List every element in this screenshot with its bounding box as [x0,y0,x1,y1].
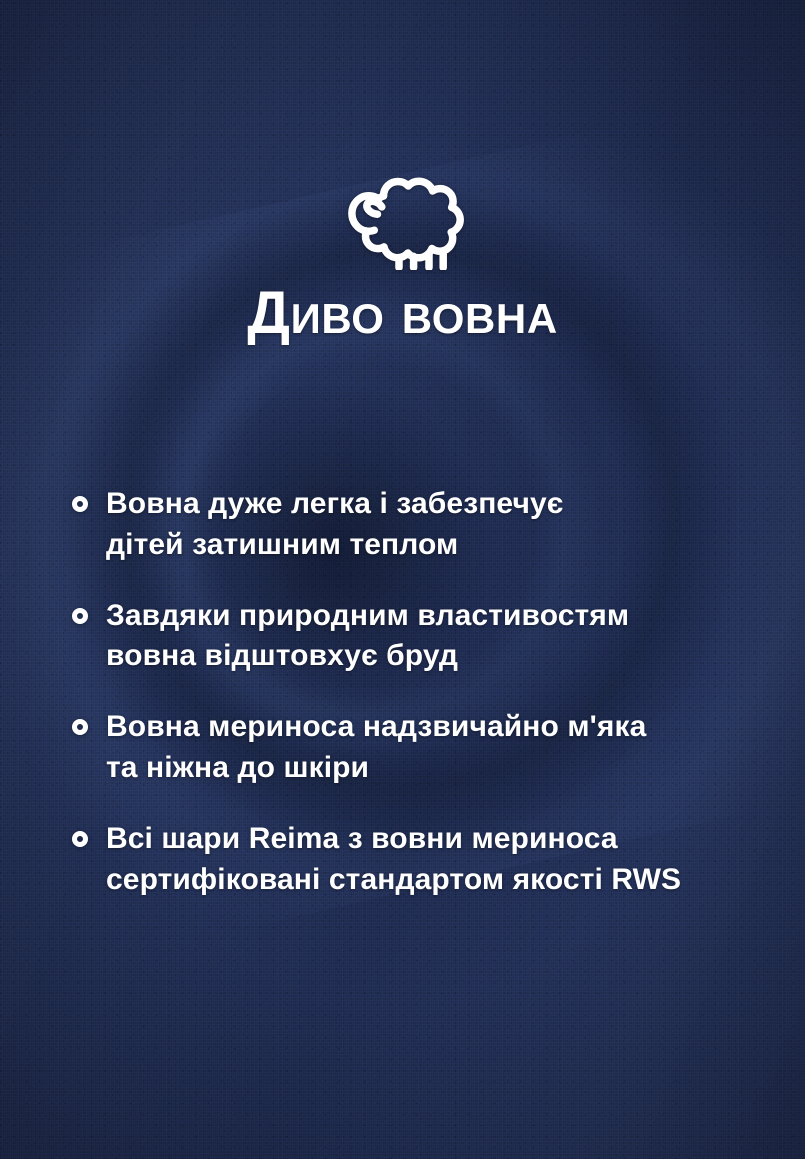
ring-bullet-icon [72,496,88,512]
benefit-list: Вовна дуже легка і забезпечує дітей зати… [72,484,765,900]
ring-bullet-icon [72,831,88,847]
wool-benefits-poster: Диво вовна Вовна дуже легка і забезпечує… [0,0,805,1159]
ring-bullet-icon [72,608,88,624]
list-item: Вовна дуже легка і забезпечує дітей зати… [72,484,765,566]
poster-content: Диво вовна Вовна дуже легка і забезпечує… [0,0,805,1159]
benefit-text: Вовна мериноса надзвичайно м'яка та ніжн… [106,707,646,789]
page-title: Диво вовна [0,283,805,343]
list-item: Завдяки природним властивостям вовна від… [72,596,765,678]
benefit-text: Вовна дуже легка і забезпечує дітей зати… [106,484,563,566]
ring-bullet-icon [72,719,88,735]
list-item: Вовна мериноса надзвичайно м'яка та ніжн… [72,707,765,789]
sheep-icon [0,170,805,270]
list-item: Всі шари Reima з вовни мериноса сертифік… [72,819,765,901]
benefit-text: Всі шари Reima з вовни мериноса сертифік… [106,819,681,901]
benefit-text: Завдяки природним властивостям вовна від… [106,596,629,678]
